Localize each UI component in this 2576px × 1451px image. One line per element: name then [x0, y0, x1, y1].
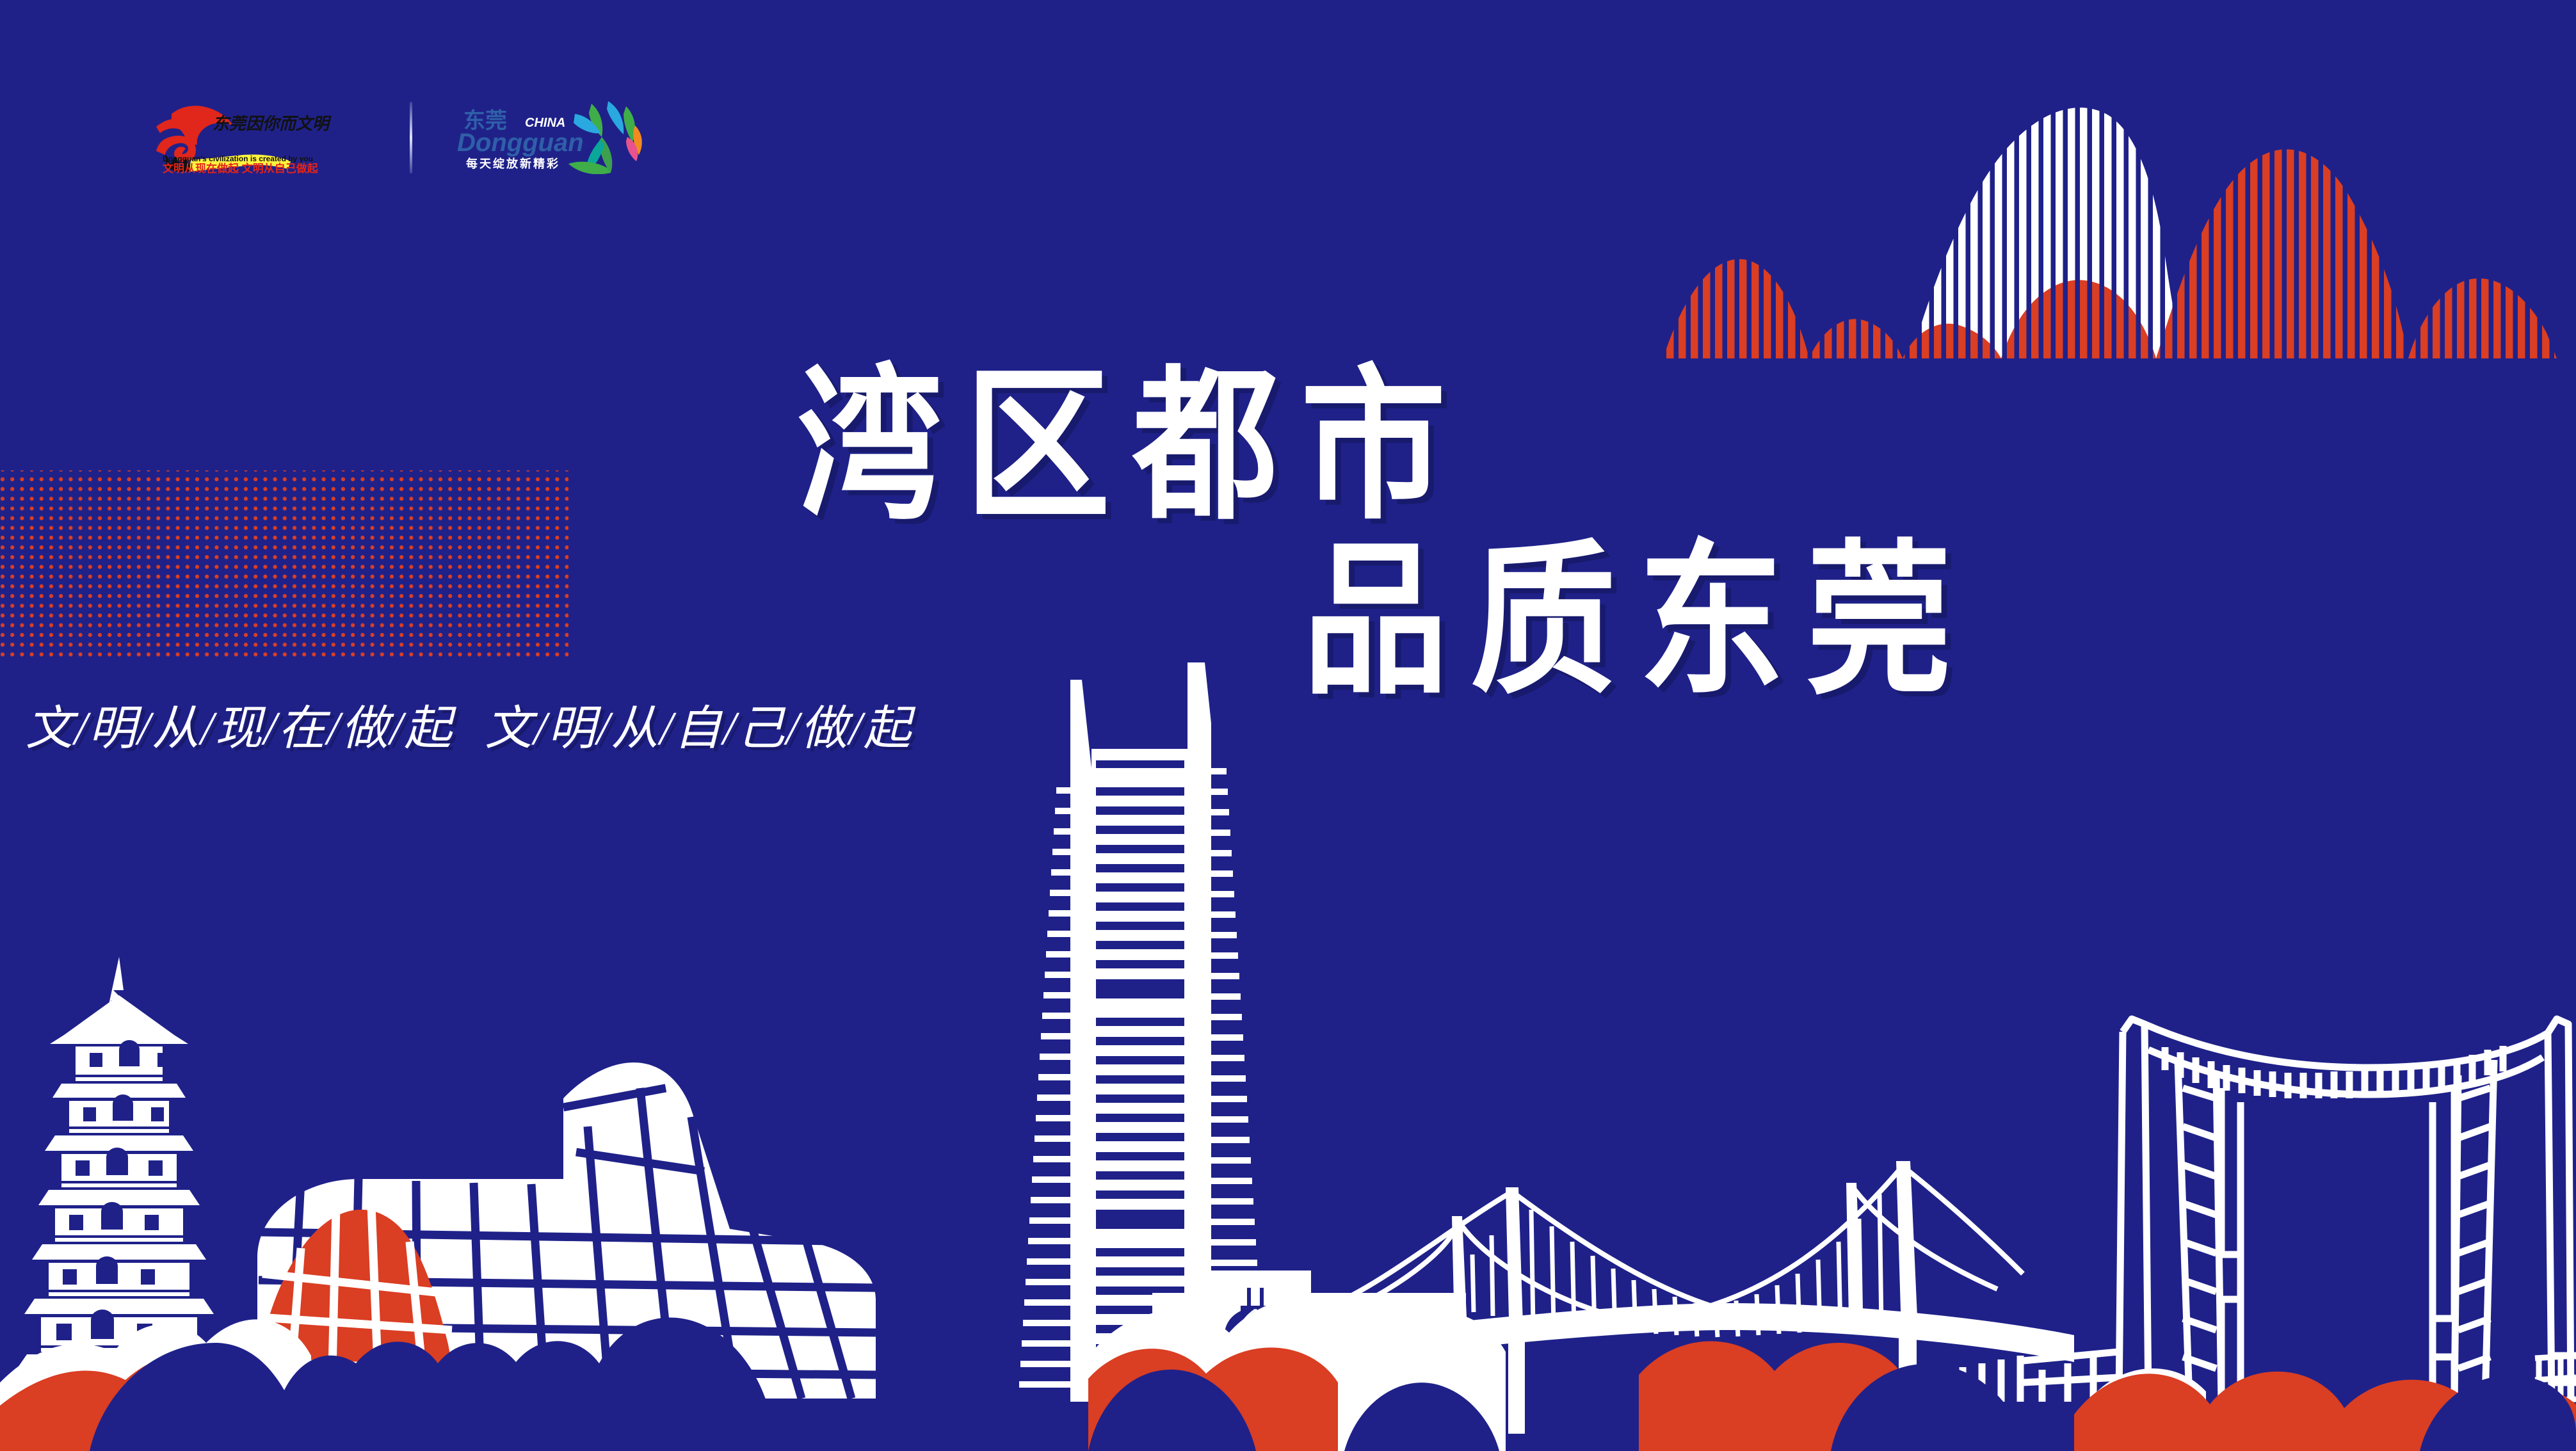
dongguan-tagline: 每天绽放新精彩: [466, 157, 560, 170]
civilization-red-slogan: 文明从现在做起 文明从自己做起: [163, 162, 319, 174]
logo-bar: 东莞因你而文明 Dongguan's civilization is creat…: [149, 97, 648, 177]
civilization-logo[interactable]: 东莞因你而文明 Dongguan's civilization is creat…: [149, 97, 379, 177]
headline-block: 湾区都市 品质东莞: [797, 358, 2066, 709]
logo-divider: [410, 102, 412, 173]
dongguan-city-logo[interactable]: 东莞 CHINA Dongguan 每天绽放新精彩: [443, 97, 648, 177]
slogan-part-2: 文/明/从/自/己/做/起: [485, 703, 912, 755]
slogan-part-1: 文/明/从/现/在/做/起: [26, 703, 453, 755]
civilization-chinese-title: 东莞因你而文明: [213, 115, 332, 133]
headline-line-1: 湾区都市: [797, 358, 1913, 533]
slogan-strip: 文/明/从/现/在/做/起文/明/从/自/己/做/起: [26, 690, 912, 758]
civilization-english-line: Dongguan's civilization is created by yo…: [163, 154, 313, 163]
dongguan-country-label: CHINA: [525, 116, 565, 130]
headline-line-2: 品质东莞: [1303, 533, 1974, 708]
poster-root: 东莞因你而文明 Dongguan's civilization is creat…: [0, 0, 2576, 1451]
dongguan-pinyin: Dongguan: [457, 129, 584, 157]
